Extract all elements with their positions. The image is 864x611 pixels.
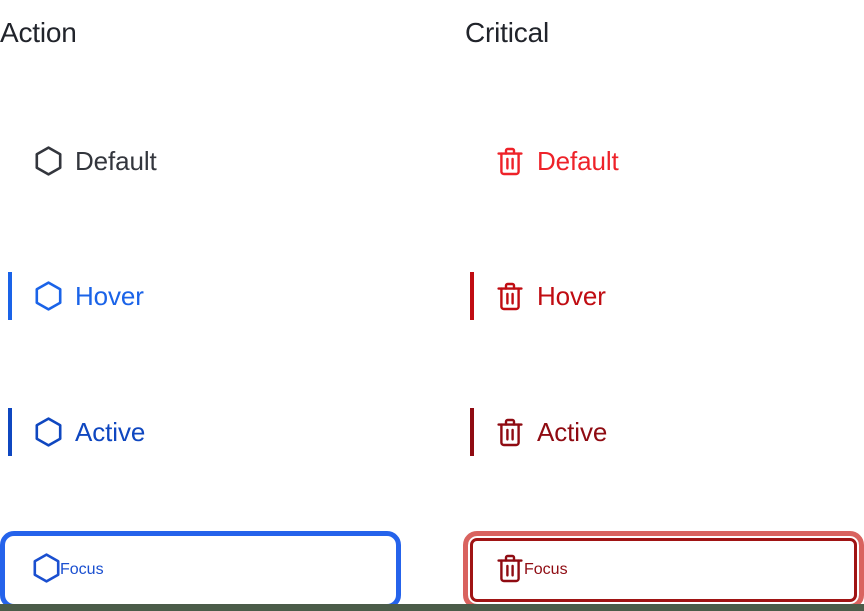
critical-active-indicator-bar [470, 408, 474, 456]
critical-default-label: Default [537, 148, 619, 174]
hexagon-icon [33, 146, 63, 176]
action-default-label: Default [75, 148, 157, 174]
action-active-button[interactable]: Active [0, 397, 400, 467]
hexagon-icon [33, 281, 63, 311]
trash-icon [495, 417, 525, 447]
critical-hover-indicator-bar [470, 272, 474, 320]
column-heading-critical: Critical [465, 19, 549, 47]
bottom-strip [0, 604, 864, 611]
critical-hover-label: Hover [537, 283, 606, 309]
action-focus-label: Focus [60, 561, 104, 579]
critical-hover-button[interactable]: Hover [462, 261, 862, 331]
action-active-indicator-bar [8, 408, 12, 456]
action-hover-label: Hover [75, 283, 144, 309]
critical-active-label: Active [537, 419, 607, 445]
trash-icon [496, 553, 524, 588]
critical-default-button[interactable]: Default [462, 126, 862, 196]
hexagon-icon [33, 417, 63, 447]
hexagon-icon [33, 553, 60, 588]
trash-icon [495, 281, 525, 311]
action-active-label: Active [75, 419, 145, 445]
action-default-button[interactable]: Default [0, 126, 400, 196]
action-focus-button[interactable]: Focus [0, 531, 401, 609]
critical-active-button[interactable]: Active [462, 397, 862, 467]
column-heading-action: Action [0, 19, 77, 47]
trash-icon [495, 146, 525, 176]
action-hover-button[interactable]: Hover [0, 261, 400, 331]
critical-focus-label: Focus [524, 561, 568, 579]
action-hover-indicator-bar [8, 272, 12, 320]
state-matrix-canvas: Action Critical Default Hover [0, 0, 864, 611]
critical-focus-button[interactable]: Focus [463, 531, 864, 609]
